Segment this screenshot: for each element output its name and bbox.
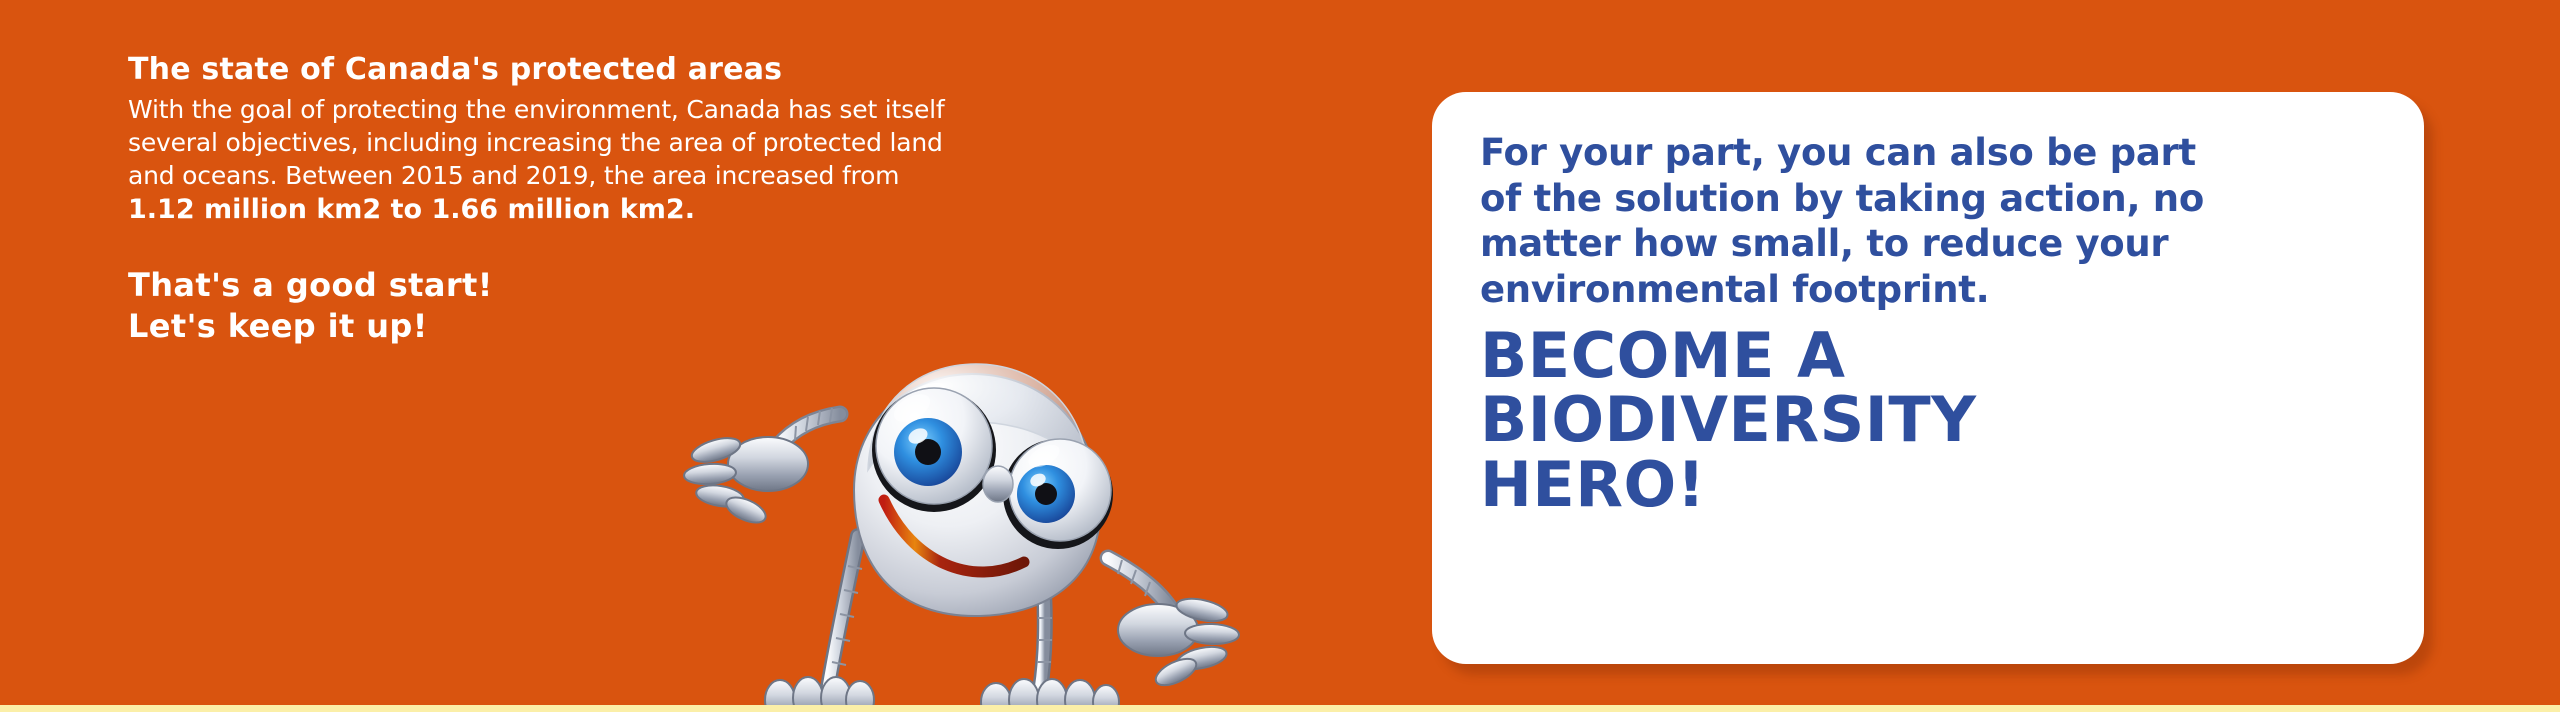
robot-mascot-illustration — [672, 322, 1252, 712]
body-line-2: several objectives, including increasing… — [128, 126, 1248, 159]
statistic-line: 1.12 million km2 to 1.66 million km2. — [128, 192, 1248, 227]
bottom-accent-strip — [0, 705, 2560, 712]
mascot-left-leg — [765, 536, 874, 712]
mascot-right-eye — [1003, 439, 1113, 549]
left-text-column: The state of Canada's protected areas Wi… — [128, 52, 1248, 347]
headline-line-1: BECOME A — [1480, 324, 2378, 388]
card-paragraph-line-3: matter how small, to reduce your — [1480, 221, 2378, 267]
card-paragraph-line-2: of the solution by taking action, no — [1480, 176, 2378, 222]
mascot-left-arm — [683, 408, 840, 528]
card-paragraph-line-4: environmental footprint. — [1480, 267, 2378, 313]
mascot-body — [854, 364, 1100, 616]
mascot-right-arm — [1108, 558, 1239, 691]
body-paragraph: With the goal of protecting the environm… — [128, 93, 1248, 227]
mascot-right-leg — [981, 592, 1119, 712]
body-line-3: and oceans. Between 2015 and 2019, the a… — [128, 159, 1248, 192]
call-to-action-card: For your part, you can also be part of t… — [1432, 92, 2424, 664]
banner-root: The state of Canada's protected areas Wi… — [0, 0, 2560, 712]
mascot-smile — [884, 500, 1024, 572]
cta-line-2: Let's keep it up! — [128, 306, 1248, 347]
mascot-left-eye — [872, 388, 996, 512]
headline-line-3: HERO! — [1480, 453, 2378, 517]
headline-line-2: BIODIVERSITY — [1480, 388, 2378, 452]
card-paragraph: For your part, you can also be part of t… — [1480, 130, 2378, 312]
cta-line-1: That's a good start! — [128, 265, 1248, 306]
mascot-nose-nub — [983, 466, 1013, 502]
page-title: The state of Canada's protected areas — [128, 52, 1248, 87]
body-line-1: With the goal of protecting the environm… — [128, 93, 1248, 126]
card-headline: BECOME A BIODIVERSITY HERO! — [1480, 324, 2378, 517]
encouragement-text: That's a good start! Let's keep it up! — [128, 265, 1248, 347]
card-paragraph-line-1: For your part, you can also be part — [1480, 130, 2378, 176]
